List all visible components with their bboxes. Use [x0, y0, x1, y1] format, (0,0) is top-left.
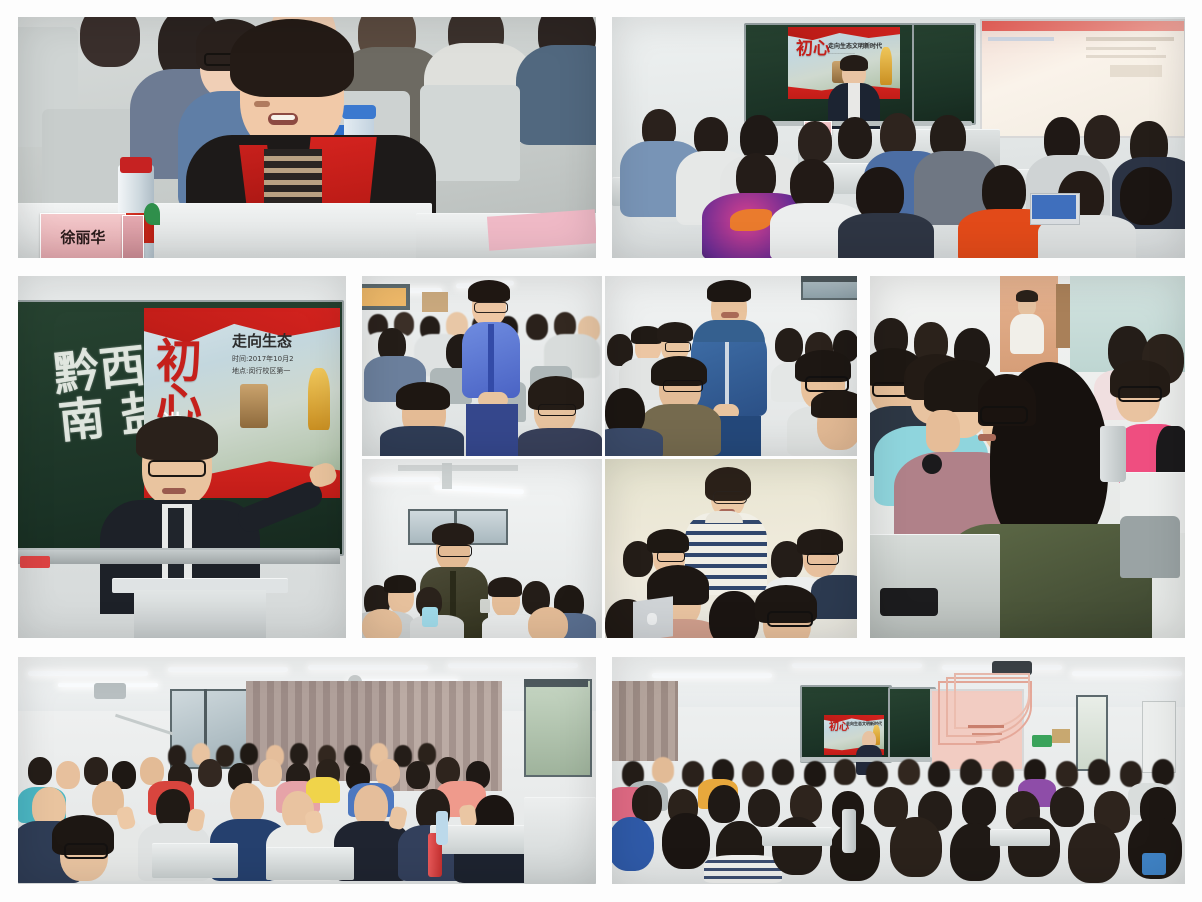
photo-collage: 徐丽华 初心 走向生态文明新时代 ————————— [0, 0, 1202, 902]
panel-student-question-1 [362, 276, 602, 456]
panel-student-question-3 [362, 459, 602, 638]
name-card: 徐丽华 [40, 213, 126, 258]
panel-audience-applause [18, 657, 596, 884]
panel-hall-rear-view: 初心 走向生态文明新时代 [612, 657, 1185, 884]
poster-place: 地点:闵行校区第一 [232, 366, 290, 376]
panel-front-row-attendee: 徐丽华 [18, 17, 596, 258]
panel-lecture-wide: 初心 走向生态文明新时代 ————————— [612, 17, 1185, 258]
panel-student-question-4 [605, 459, 857, 638]
name-card-text: 徐丽华 [41, 227, 125, 248]
panel-student-question-2 [605, 276, 857, 456]
panel-speaker-podium: 黔西南 盐 初心 讲堂 第一讲 走向生态 时间:2017年10月2 地点:闵行校… [18, 276, 346, 638]
poster-time: 时间:2017年10月2 [232, 354, 294, 364]
panel-audience-listening [870, 276, 1185, 638]
poster-title: 走向生态 [232, 330, 292, 351]
